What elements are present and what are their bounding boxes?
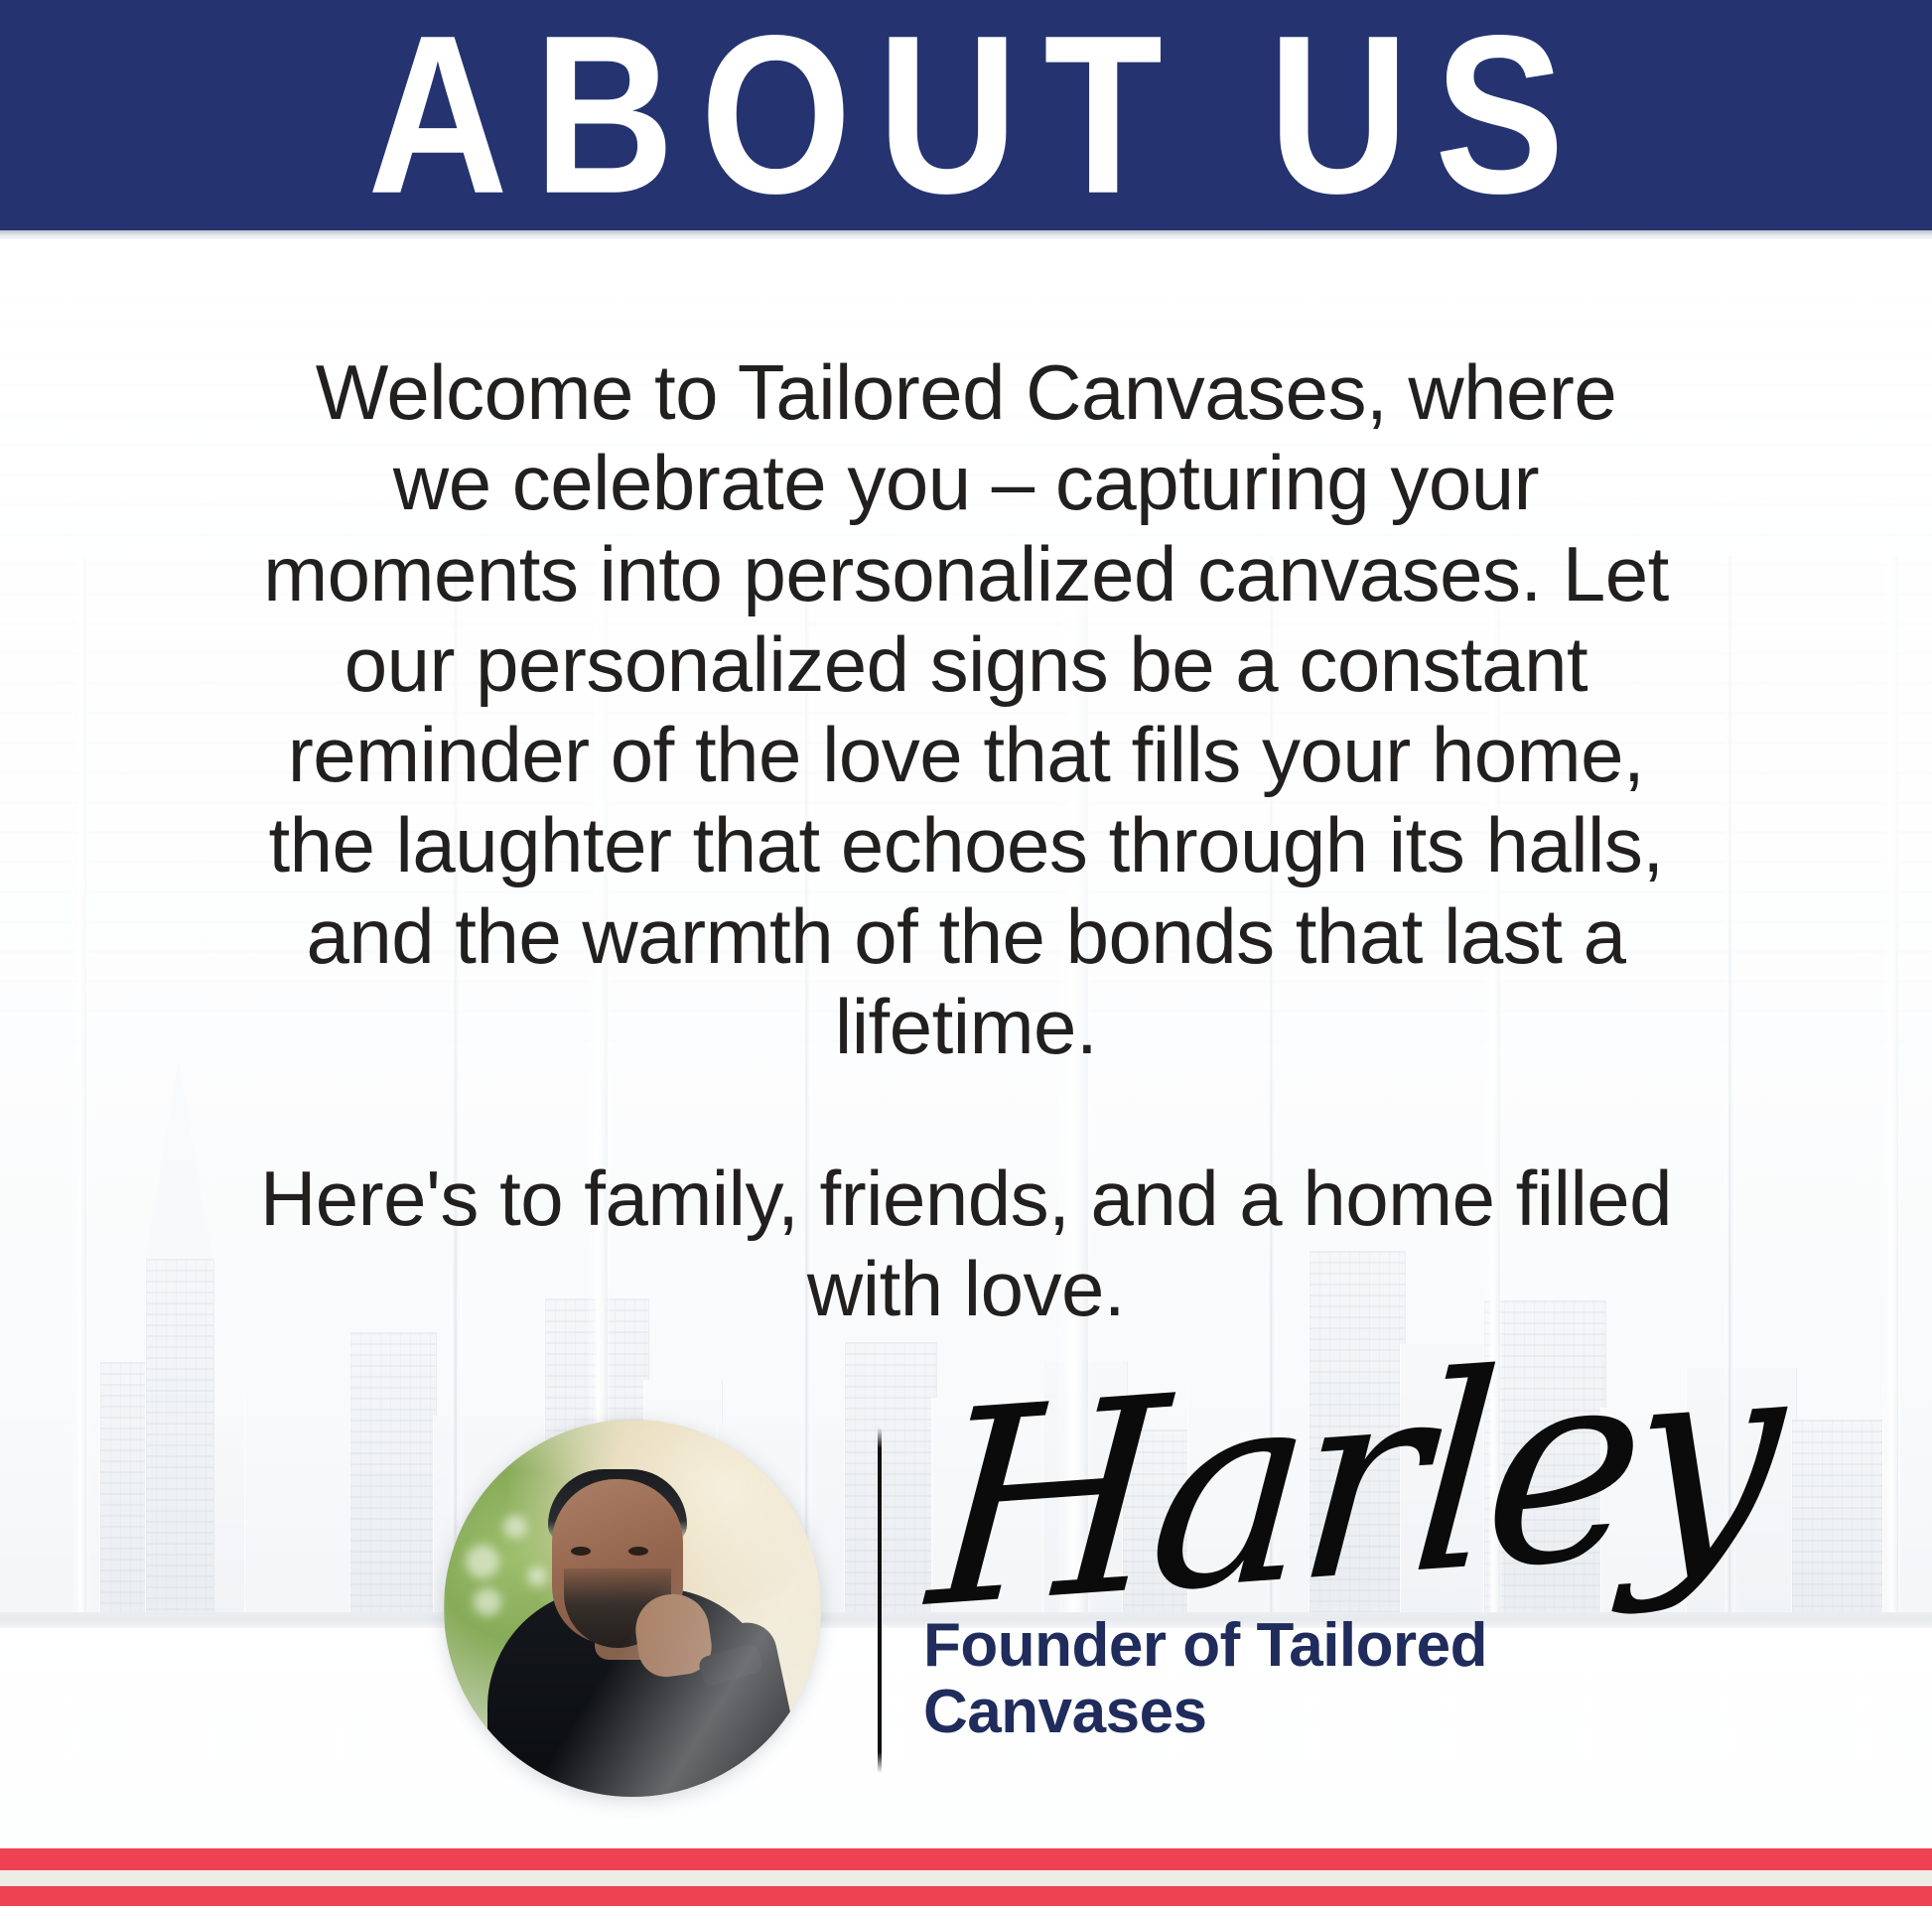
signature-block: Harley Founder of Tailored Canvases xyxy=(0,1410,1932,1827)
founder-role-line-1: Founder of Tailored xyxy=(923,1613,1559,1680)
about-paragraph-1: Welcome to Tailored Canvases, where we c… xyxy=(256,347,1676,1072)
signature-divider xyxy=(878,1428,882,1773)
founder-signature: Harley xyxy=(923,1319,1779,1646)
bokeh-light xyxy=(466,1545,499,1578)
footer-stripe-bottom xyxy=(0,1886,1932,1906)
about-us-body: Welcome to Tailored Canvases, where we c… xyxy=(256,347,1676,1335)
footer-stripe-top xyxy=(0,1848,1932,1870)
avatar xyxy=(444,1420,821,1797)
founder-role: Founder of Tailored Canvases xyxy=(923,1613,1559,1746)
bokeh-light xyxy=(474,1588,501,1616)
footer-stripe-gap xyxy=(0,1870,1932,1886)
header-bar: ABOUT US xyxy=(0,0,1932,230)
avatar-eye-right xyxy=(628,1547,648,1556)
about-us-poster: ABOUT US Welcome to Tailored Canvases, w… xyxy=(0,0,1932,1906)
bokeh-light xyxy=(503,1515,527,1539)
page-title: ABOUT US xyxy=(342,5,1590,226)
header-underline xyxy=(0,230,1932,239)
founder-role-line-2: Canvases xyxy=(923,1680,1559,1746)
bokeh-light xyxy=(527,1566,547,1586)
avatar-eye-left xyxy=(571,1547,591,1556)
about-paragraph-2: Here's to family, friends, and a home fi… xyxy=(256,1154,1676,1335)
